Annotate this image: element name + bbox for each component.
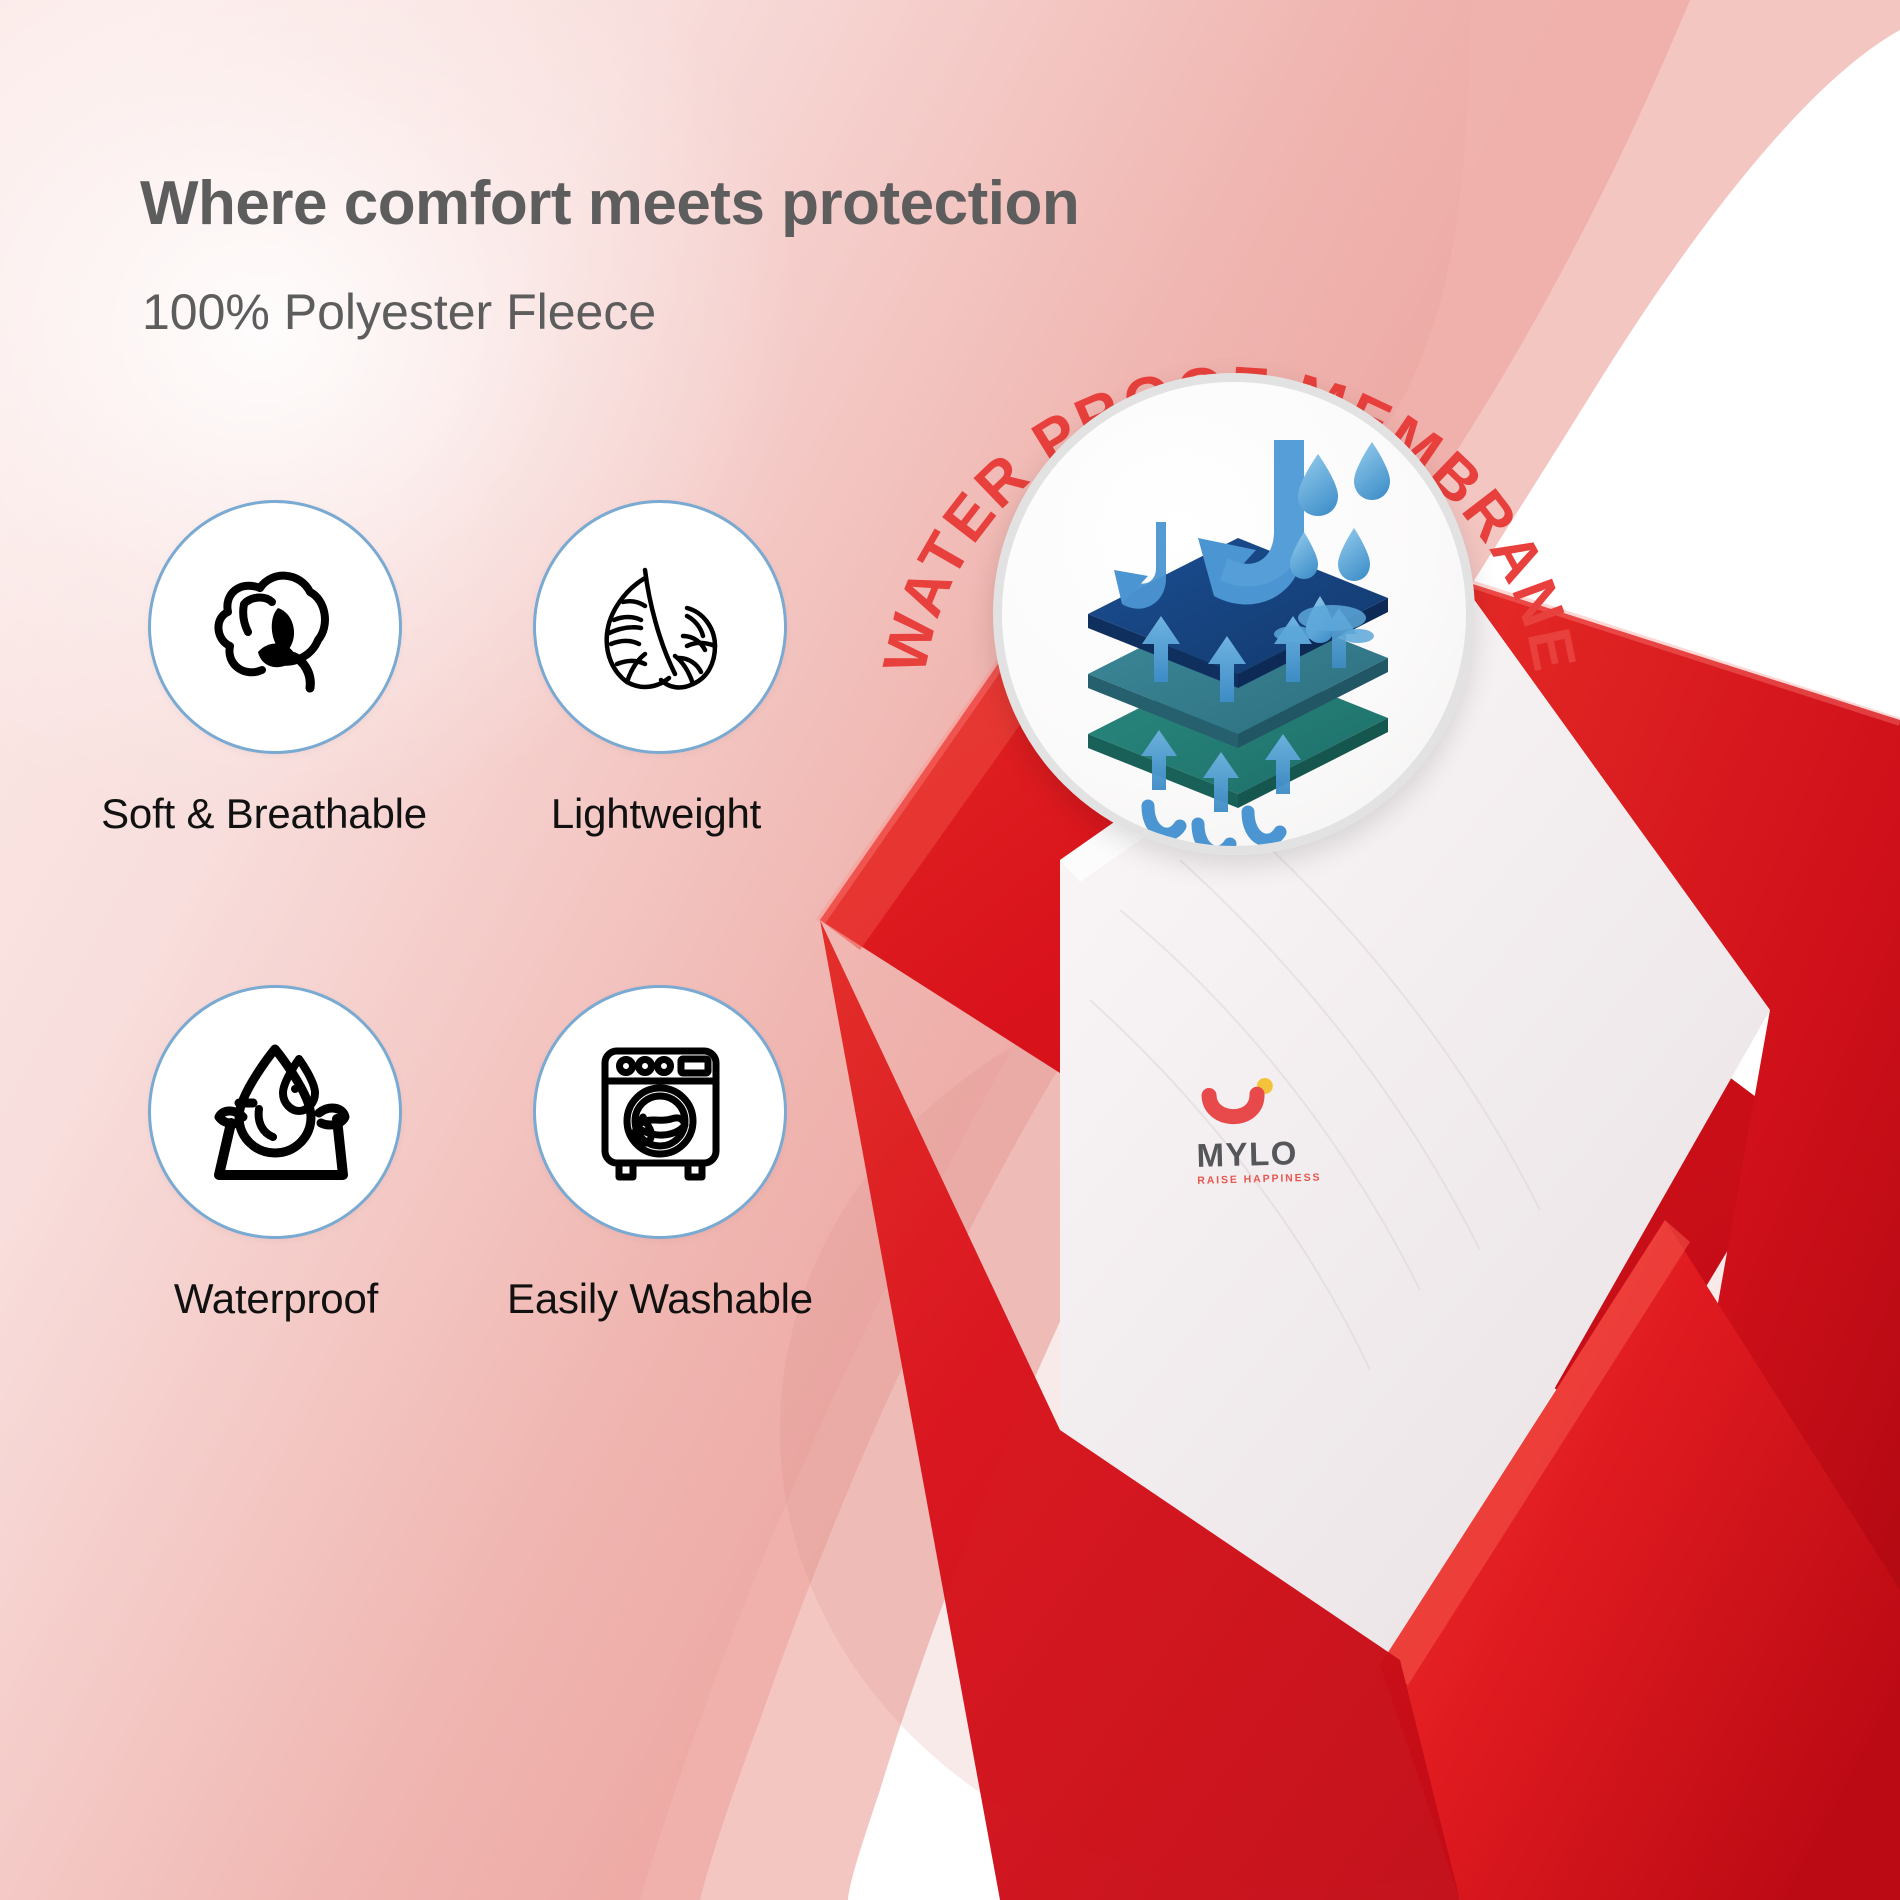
membrane-layers-icon	[1002, 382, 1466, 846]
feature-list: Soft & Breathable	[0, 0, 980, 1400]
water-repel-arrow-small	[1114, 522, 1166, 609]
feature-label: Soft & Breathable	[88, 790, 440, 838]
feature-label: Waterproof	[112, 1275, 440, 1323]
feature-icon-circle	[148, 500, 402, 754]
feature-label: Easily Washable	[495, 1275, 825, 1323]
badge-circle	[993, 373, 1475, 855]
washing-machine-icon	[583, 1035, 738, 1190]
feature-icon-circle	[533, 500, 787, 754]
mylo-logo: MYLO RAISE HAPPINESS	[1195, 1076, 1338, 1187]
feature-label: Lightweight	[487, 790, 825, 838]
feature-item-easily-washable: Easily Washable	[495, 985, 825, 1323]
mylo-wordmark: MYLO	[1196, 1135, 1337, 1172]
feature-item-soft-breathable: Soft & Breathable	[110, 500, 440, 838]
product-infographic: MYLO RAISE HAPPINESS Where comfort meets…	[0, 0, 1900, 1900]
feature-item-waterproof: Waterproof	[110, 985, 440, 1323]
smile-arc-icon	[1195, 1077, 1304, 1132]
cotton-boll-icon	[200, 552, 350, 702]
water-repel-arrow	[1198, 440, 1304, 604]
feature-item-lightweight: Lightweight	[495, 500, 825, 838]
feature-icon-circle	[148, 985, 402, 1239]
feature-icon-circle	[533, 985, 787, 1239]
water-drop-repel-icon	[195, 1037, 355, 1187]
feather-icon	[583, 550, 738, 705]
waterproof-membrane-badge: WATER PROOF MEMBRANE	[975, 355, 1475, 855]
